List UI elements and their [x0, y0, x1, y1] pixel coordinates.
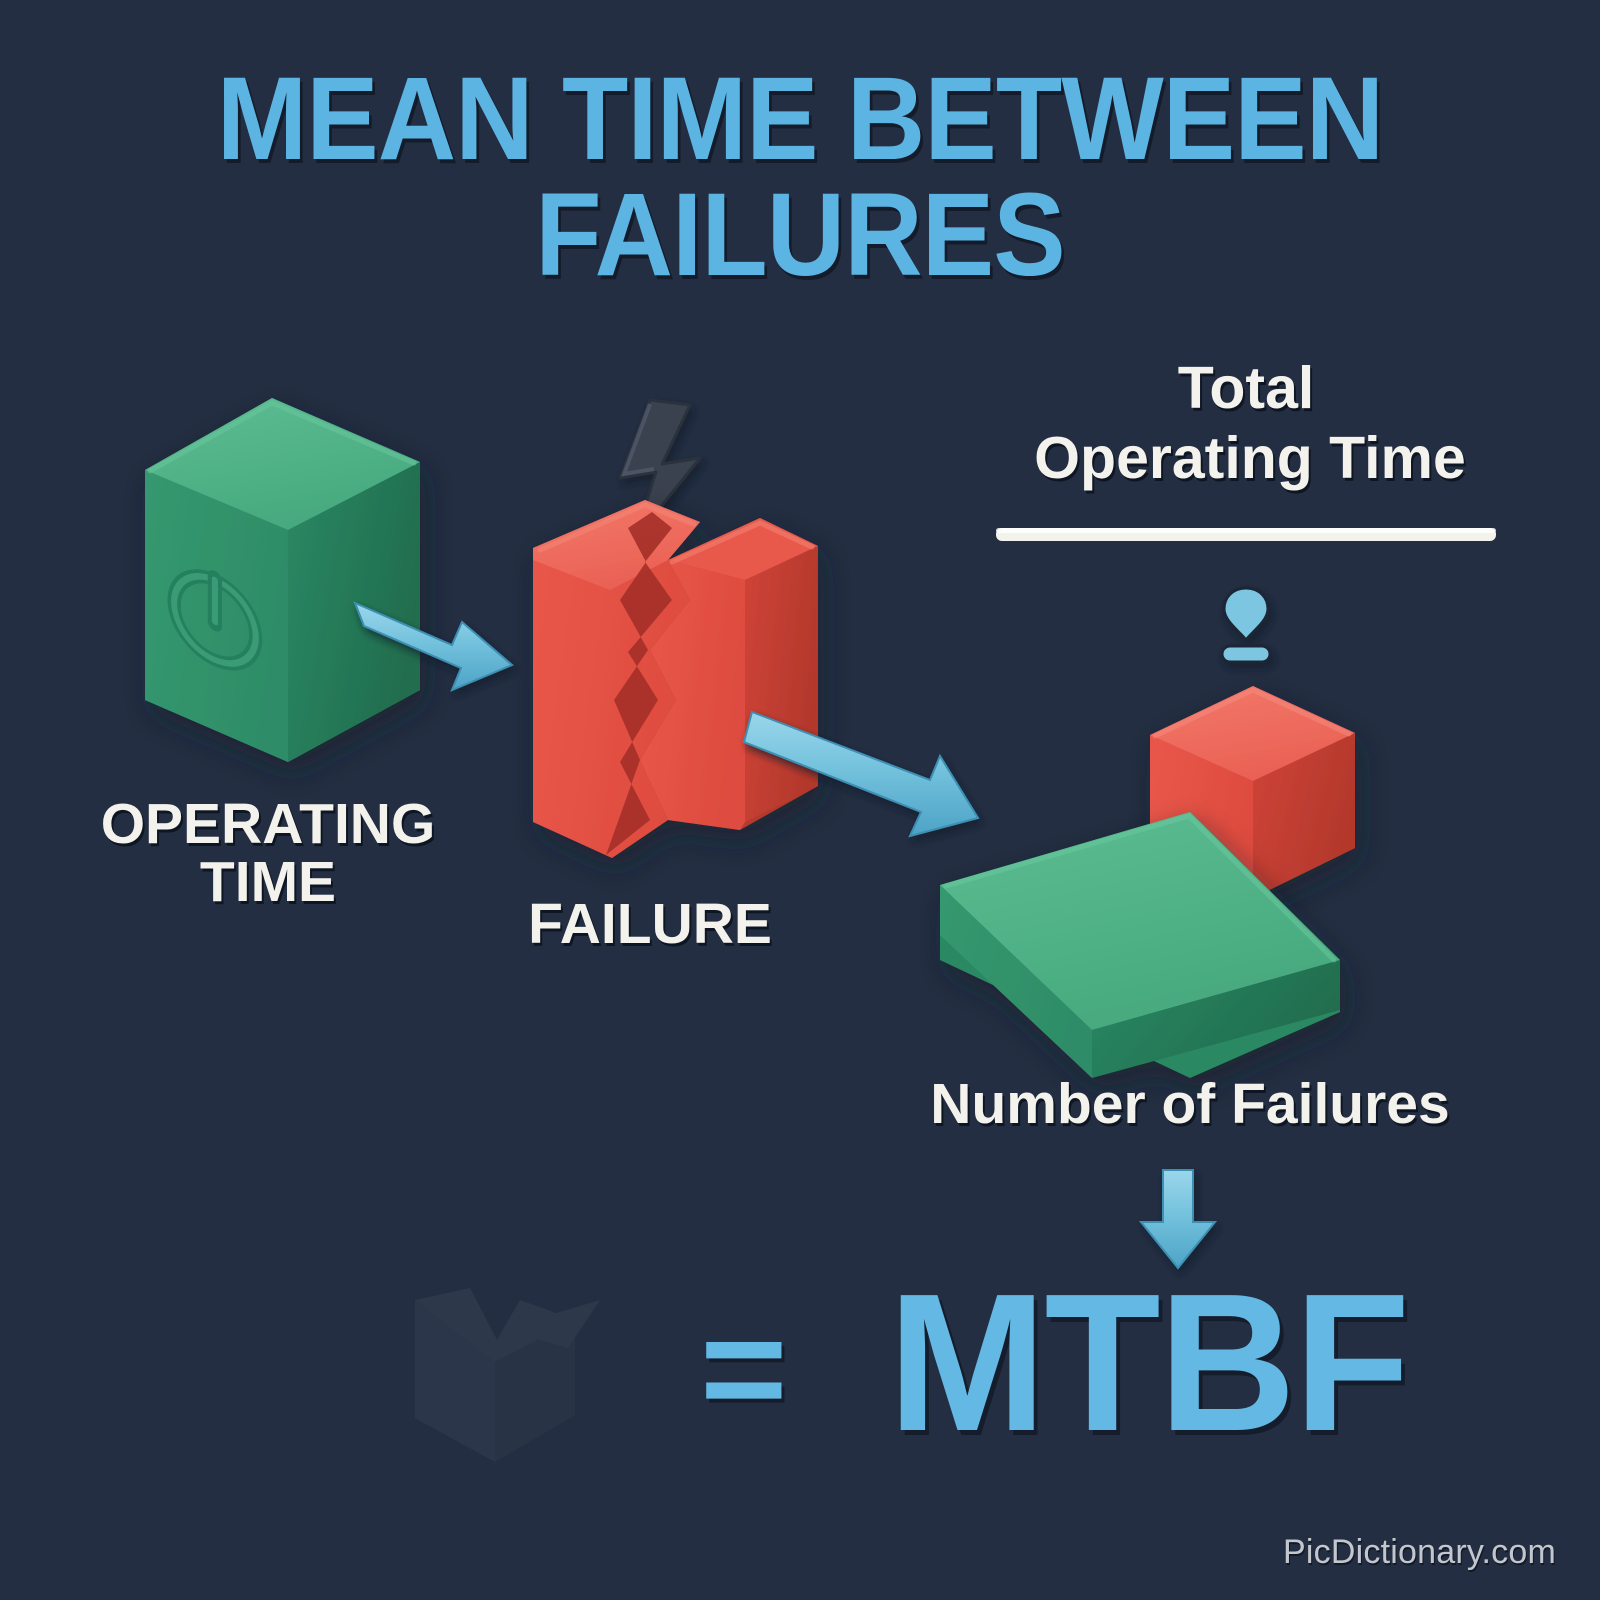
broken-box-icon [415, 1288, 600, 1462]
watermark: PicDictionary.com [1283, 1533, 1556, 1572]
label-number-of-failures: Number of Failures [840, 1075, 1540, 1133]
label-total-operating-time-line2: Operating Time [960, 428, 1540, 488]
fraction-divider-bar [996, 528, 1496, 541]
infographic-canvas: MEAN TIME BETWEEN FAILURES [0, 0, 1600, 1600]
label-failure: FAILURE [470, 895, 830, 953]
red-failure-cube [533, 500, 818, 858]
label-total-operating-time-line1: Total [996, 358, 1496, 418]
equals-sign: = [700, 1282, 788, 1455]
pin-marker-icon [1222, 588, 1270, 662]
result-mtbf: MTBF [888, 1250, 1408, 1475]
label-operating-time: OPERATING TIME [58, 795, 478, 911]
